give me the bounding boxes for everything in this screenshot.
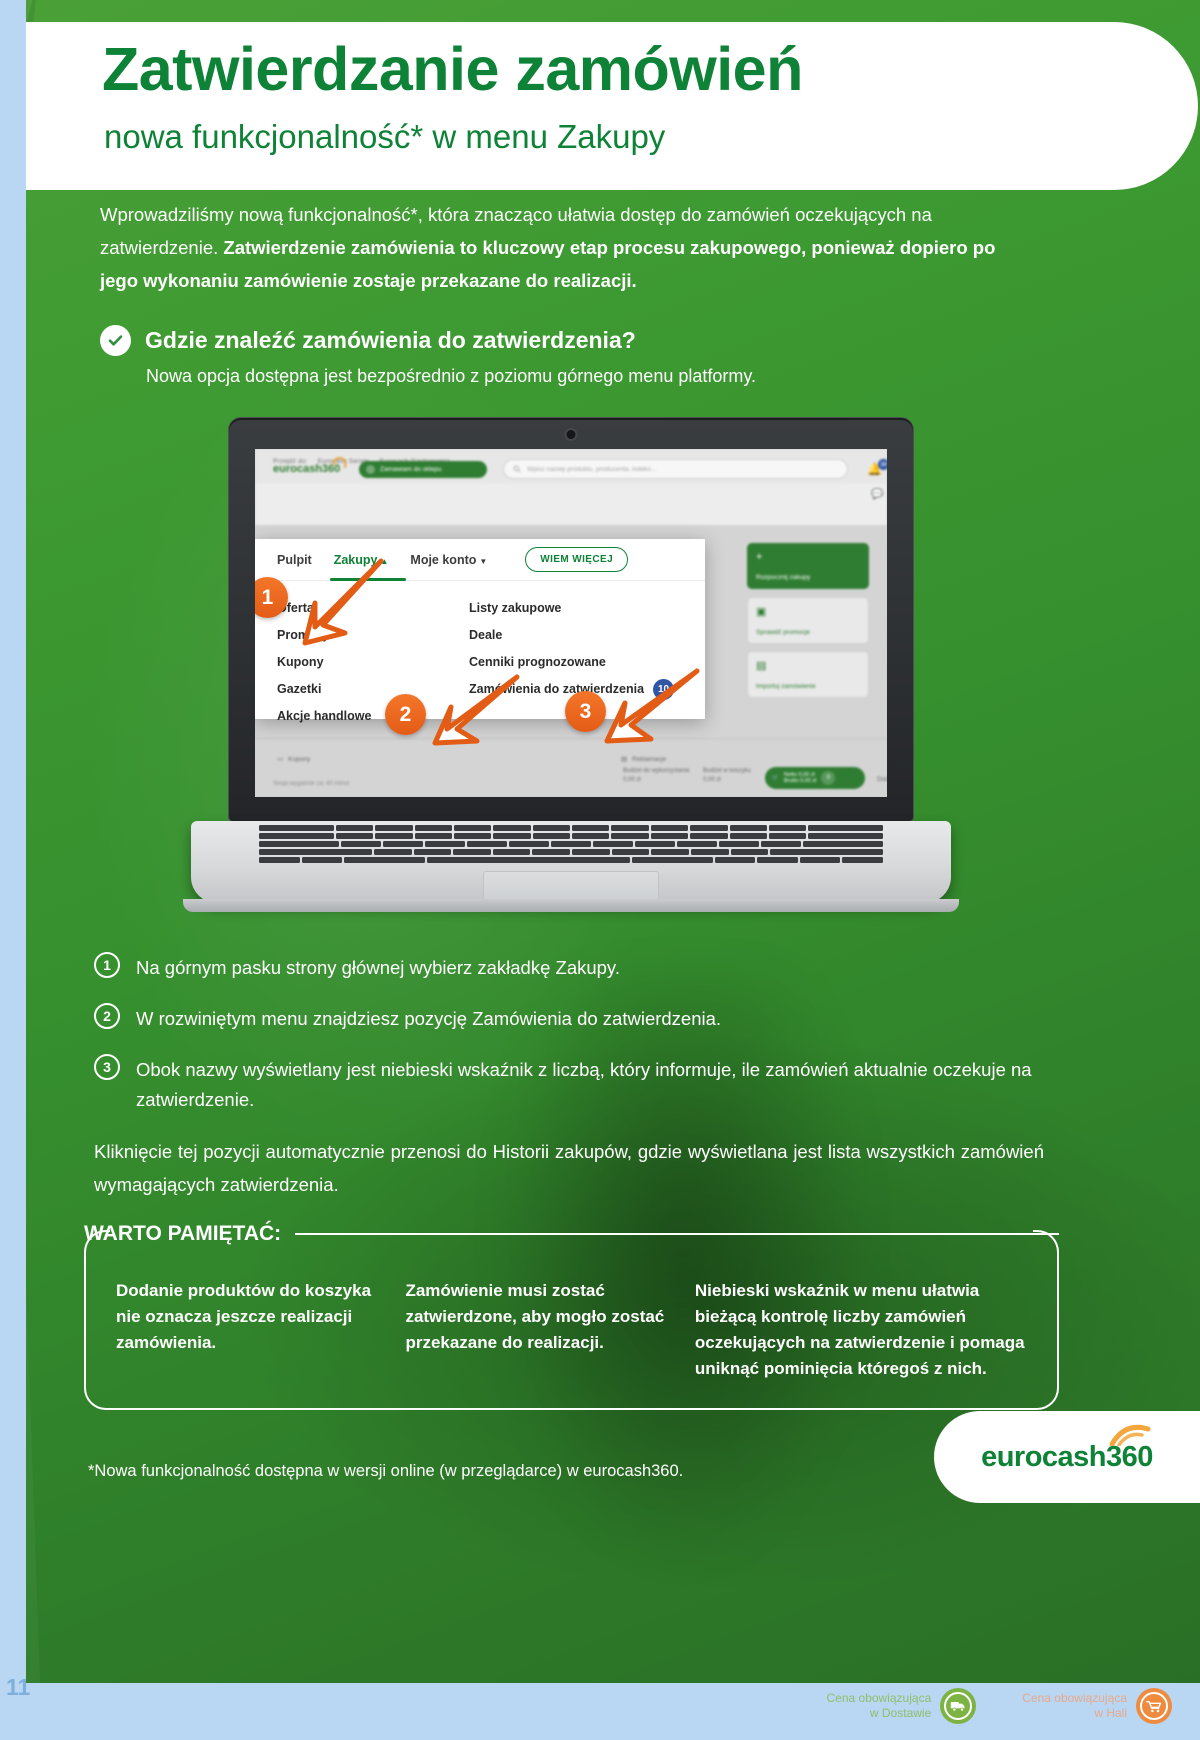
coupons-label: Kupony [288, 756, 310, 763]
menu-item-deale[interactable]: Deale [469, 622, 705, 649]
cart-quantity: 0 [821, 771, 835, 785]
cart-brutto: Brutto 0,00 zł [784, 778, 816, 784]
complaints-label: Reklamacje [632, 756, 666, 763]
badge-hall: Cena obowiązująca w Hali [1022, 1688, 1172, 1724]
cart-icon [1136, 1688, 1172, 1724]
add-label[interactable]: Dodawaj [877, 777, 887, 783]
steps-list: 1 Na górnym pasku strony głównej wybierz… [94, 952, 1044, 1201]
step-number-2: 2 [94, 1003, 120, 1029]
budget-available-title: Budżet do wykorzystania [623, 767, 689, 776]
remember-rule [295, 1233, 1059, 1235]
badge-hall-label: Cena obowiązująca w Hali [1022, 1691, 1127, 1721]
step-number-1: 1 [94, 952, 120, 978]
step-item-1: 1 Na górnym pasku strony głównej wybierz… [94, 952, 1044, 983]
closing-paragraph: Kliknięcie tej pozycji automatycznie prz… [94, 1135, 1044, 1201]
budget-available-value: 0,00 zł [623, 776, 689, 785]
card-label-0: Rozpocznij zakupy [756, 574, 810, 581]
search-placeholder: Wpisz nazwę produktu, producenta, indeks… [527, 466, 656, 473]
logo-arc-icon [1109, 1424, 1151, 1446]
intro-paragraph: Wprowadziliśmy nową funkcjonalność*, któ… [100, 198, 1038, 297]
remember-heading: WARTO PAMIĘTAĆ: [84, 1222, 1059, 1246]
laptop-front-lip [183, 899, 959, 912]
budget-available: Budżet do wykorzystania 0,00 zł [623, 767, 689, 785]
step-text-2: W rozwiniętym menu znajdziesz pozycję Za… [136, 1003, 721, 1034]
footer-badges: Cena obowiązująca w Dostawie Cena obowią… [827, 1688, 1173, 1724]
budget-in-cart-value: 0,00 zł [703, 776, 751, 785]
poster-page: Zatwierdzanie zamówień nowa funkcjonalno… [0, 0, 1200, 1740]
keyboard-row [259, 841, 883, 847]
keyboard [259, 825, 883, 863]
coupons-link[interactable]: ▭ Kupony [277, 755, 310, 763]
order-store-pill[interactable]: Zamawiam do sklepu [359, 461, 487, 478]
menu-item-kupony[interactable]: Kupony [277, 649, 455, 676]
import-icon: ▤ [756, 659, 860, 672]
brand-logo-text: eurocash360 [981, 1441, 1153, 1474]
menu-item-listy-zakupowe[interactable]: Listy zakupowe [469, 595, 705, 622]
order-store-label: Zamawiam do sklepu [380, 466, 441, 473]
complaints-link[interactable]: ▤ Reklamacje [621, 755, 666, 763]
badge-hall-line1: Cena obowiązująca [1022, 1691, 1127, 1706]
menu-item-akcje-handlowe[interactable]: Akcje handlowe [277, 703, 455, 730]
badge-delivery-line1: Cena obowiązująca [827, 1691, 932, 1706]
laptop-deck [191, 821, 951, 903]
cart-glyph [1146, 1700, 1162, 1713]
search-icon [513, 465, 521, 473]
laptop-lid: Przejdź do: Eurocash Serwis Eurocash Gas… [229, 418, 913, 821]
badge-delivery: Cena obowiązująca w Dostawie [827, 1688, 977, 1724]
badge-delivery-label: Cena obowiązująca w Dostawie [827, 1691, 932, 1721]
keyboard-row [259, 825, 883, 831]
webcam-icon [567, 430, 576, 439]
step-item-2: 2 W rozwiniętym menu znajdziesz pozycję … [94, 1003, 1044, 1034]
card-check-promos[interactable]: ▣ Sprawdź promocje [747, 597, 869, 644]
divider [255, 738, 887, 739]
page-title: Zatwierdzanie zamówień [102, 34, 803, 104]
plus-icon: + [756, 551, 860, 563]
card-start-shopping[interactable]: + Rozpocznij zakupy [747, 543, 869, 589]
page-number: 11 [6, 1674, 30, 1701]
trackpad [483, 871, 659, 901]
laptop-illustration: Przejdź do: Eurocash Serwis Eurocash Gas… [191, 418, 951, 928]
cursor-arrow-3 [603, 665, 703, 751]
cart-icon: 🛒 [772, 775, 779, 781]
percent-icon: ▣ [756, 605, 860, 618]
green-background: Zatwierdzanie zamówień nowa funkcjonalno… [26, 0, 1200, 1683]
remember-column-2: Zamówienie musi zostać zatwierdzone, aby… [405, 1278, 666, 1382]
menu-label-listy-zakupowe: Listy zakupowe [469, 595, 561, 622]
menu-label-deale: Deale [469, 622, 502, 649]
intro-bold: Zatwierdzenie zamówienia to kluczowy eta… [100, 237, 995, 291]
search-input[interactable]: Wpisz nazwę produktu, producenta, indeks… [503, 459, 848, 479]
badge-hall-line2: w Hali [1022, 1706, 1127, 1721]
check-icon [100, 325, 131, 356]
card-label-2: Importuj zamówienie [756, 683, 816, 690]
section-heading: Gdzie znaleźć zamówienia do zatwierdzeni… [100, 325, 636, 356]
chat-bubble-icon[interactable]: 💬 [871, 489, 883, 500]
bell-badge: 10 [878, 459, 887, 470]
remember-section: WARTO PAMIĘTAĆ: Dodanie produktów do kos… [84, 1222, 1059, 1410]
step-number-3: 3 [94, 1054, 120, 1080]
footnote: *Nowa funkcjonalność dostępna w wersji o… [88, 1462, 683, 1481]
complaint-icon: ▤ [621, 755, 627, 763]
budget-in-cart-title: Budżet w koszyku [703, 767, 751, 776]
nav-label-moje-konto: Moje konto [410, 553, 476, 567]
remember-heading-label: WARTO PAMIĘTAĆ: [84, 1222, 281, 1246]
app-header [255, 483, 887, 525]
card-label-1: Sprawdź promocje [756, 629, 810, 636]
keyboard-row [259, 833, 883, 839]
store-icon [366, 465, 375, 474]
remember-column-1: Dodanie produktów do koszyka nie oznacza… [116, 1278, 377, 1382]
truck-icon [940, 1688, 976, 1724]
card-import-order[interactable]: ▤ Importuj zamówienie [747, 651, 869, 698]
step-text-1: Na górnym pasku strony głównej wybierz z… [136, 952, 620, 983]
coupon-icon: ▭ [277, 755, 283, 763]
step-text-3: Obok nazwy wyświetlany jest niebieski ws… [136, 1054, 1044, 1115]
truck-glyph [950, 1700, 966, 1712]
menu-item-gazetki[interactable]: Gazetki [277, 676, 455, 703]
budget-in-cart: Budżet w koszyku 0,00 zł [703, 767, 751, 785]
nav-item-moje-konto[interactable]: Moje konto▼ [410, 553, 487, 567]
marker-3: 3 [565, 691, 606, 732]
remember-box: Dodanie produktów do koszyka nie oznacza… [84, 1254, 1059, 1410]
brand-logo-panel: eurocash360 [934, 1411, 1200, 1503]
cursor-arrow-1 [301, 557, 387, 649]
laptop-base [191, 821, 951, 919]
marker-2: 2 [385, 694, 426, 735]
keyboard-row [259, 849, 883, 855]
laptop-screen: Przejdź do: Eurocash Serwis Eurocash Gas… [255, 449, 887, 797]
wiem-wiecej-button[interactable]: WIEM WIĘCEJ [525, 547, 628, 572]
section-heading-label: Gdzie znaleźć zamówienia do zatwierdzeni… [145, 327, 636, 354]
app-logo: eurocash360 [273, 463, 340, 475]
session-timer: Sesja wygaśnie za: 40 minut [273, 781, 349, 787]
cursor-arrow-2 [431, 671, 523, 751]
section-subheading: Nowa opcja dostępna jest bezpośrednio z … [146, 366, 756, 387]
step-item-3: 3 Obok nazwy wyświetlany jest niebieski … [94, 1054, 1044, 1115]
chevron-down-icon: ▼ [479, 557, 487, 566]
badge-delivery-line2: w Dostawie [827, 1706, 932, 1721]
page-subtitle: nowa funkcjonalność* w menu Zakupy [104, 118, 665, 156]
remember-column-3: Niebieski wskaźnik w menu ułatwia bieżąc… [695, 1278, 1031, 1382]
left-gutter [0, 0, 26, 1683]
header-panel: Zatwierdzanie zamówień nowa funkcjonalno… [26, 22, 1198, 190]
cart-summary[interactable]: 🛒 Netto 0,00 zł Brutto 0,00 zł 0 [765, 767, 865, 789]
keyboard-row [259, 857, 883, 863]
